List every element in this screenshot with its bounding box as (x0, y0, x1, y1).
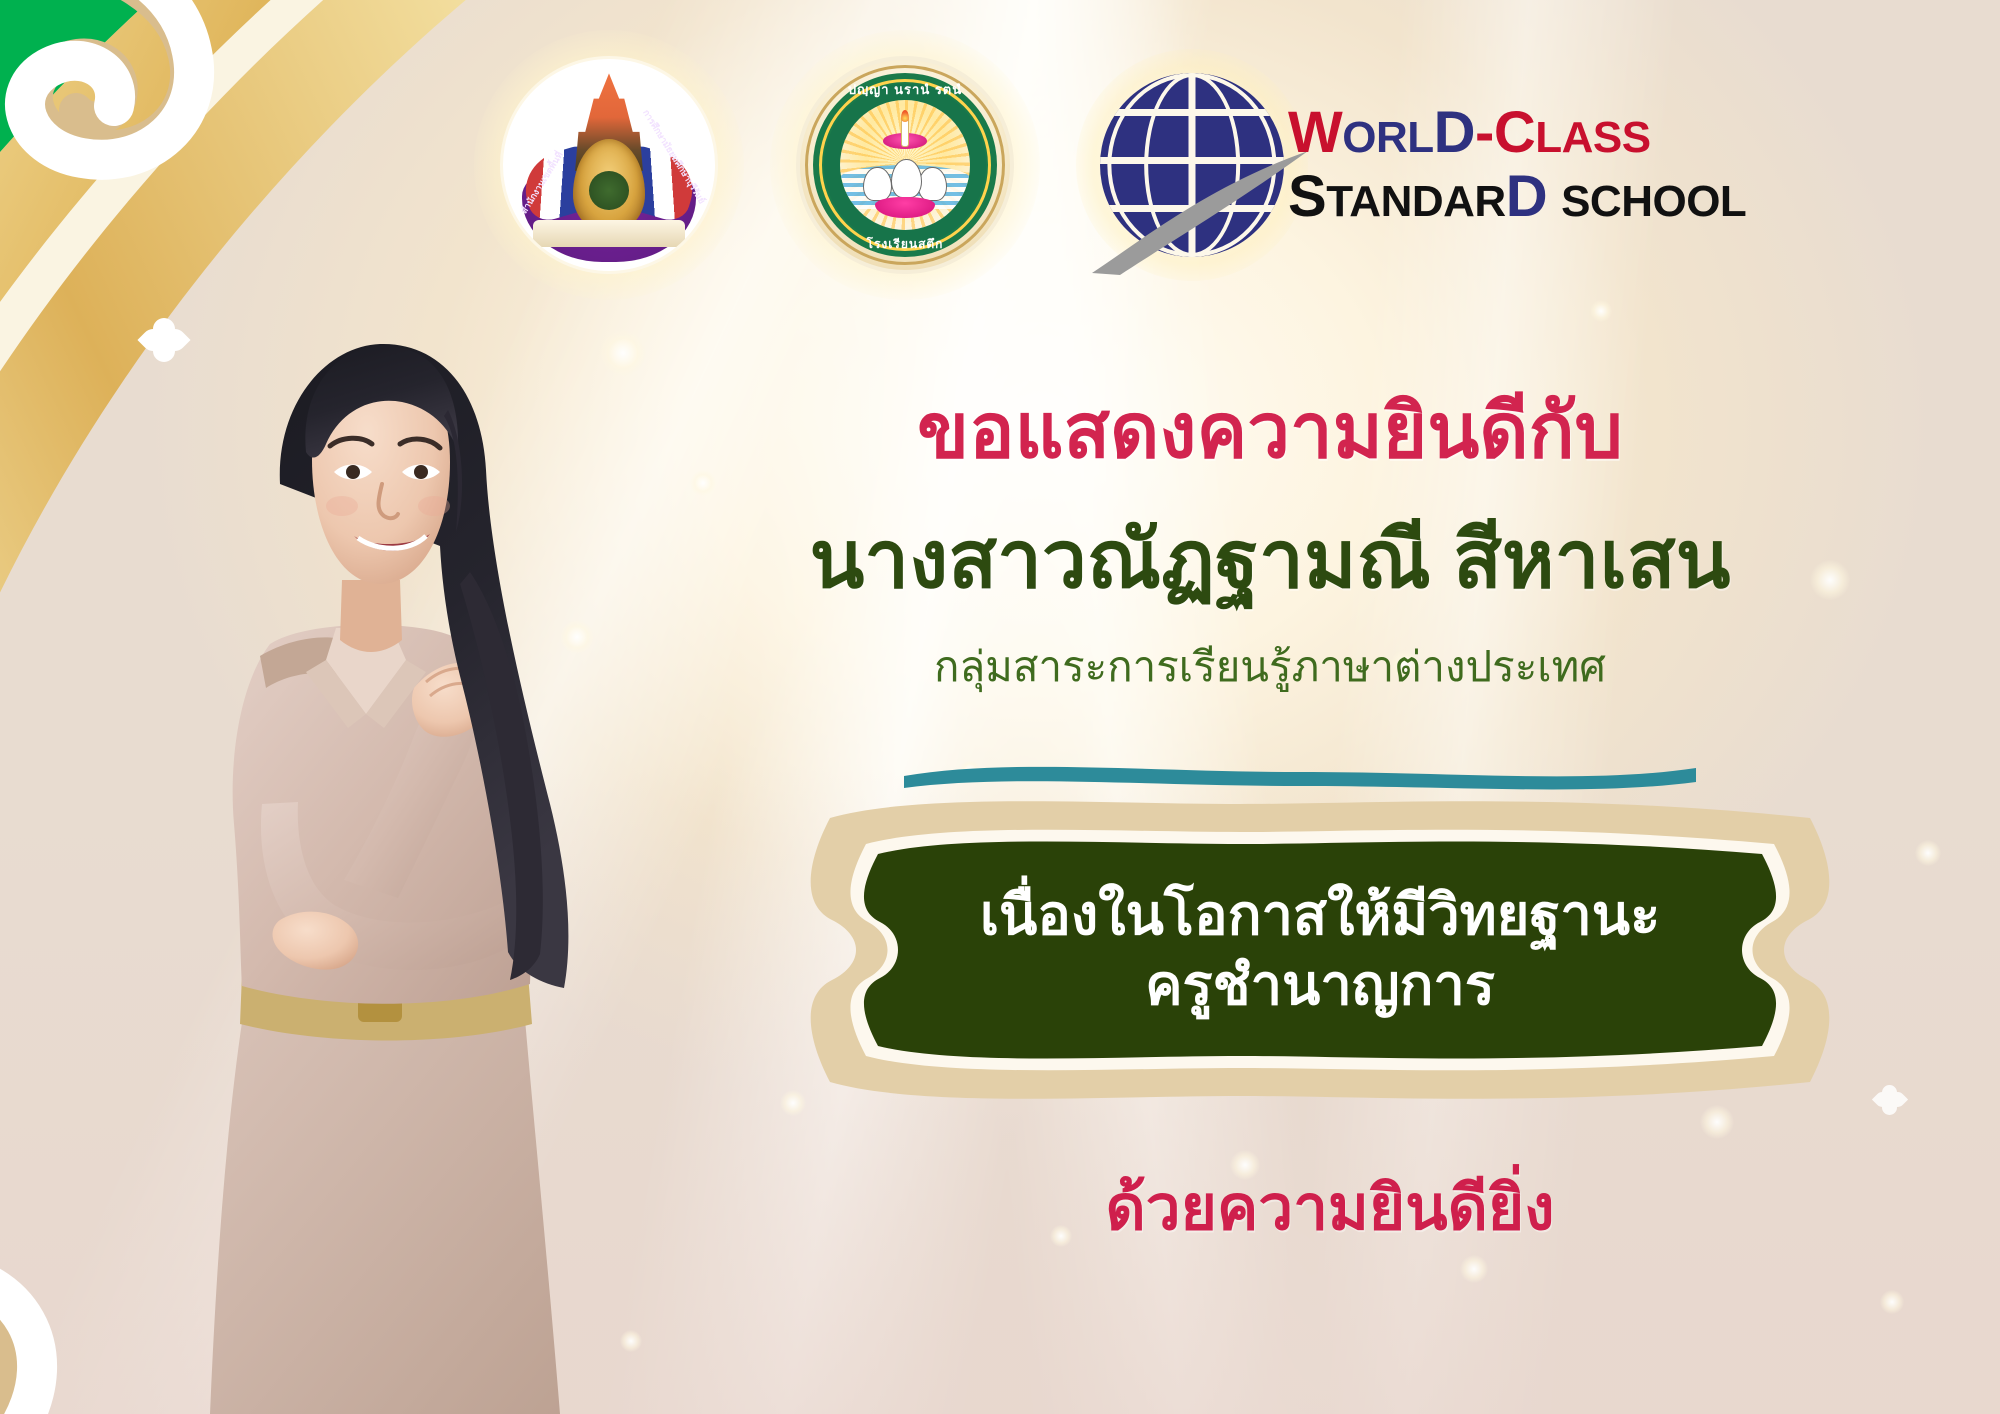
wcss-d2: D (1506, 164, 1547, 229)
congratulation-poster: สำนักงานเขตพื้นที่ การศึกษามัธยมศึกษาบุร… (0, 0, 2000, 1414)
wcss-school: SCHOOL (1561, 177, 1746, 226)
banner-line-2: ครูชำนาญการ (1145, 952, 1495, 1018)
school-motto: ปญฺญา นรานํ รตนํ (800, 79, 1010, 100)
award-banner: เนื่องในโอกาสให้มีวิทยฐานะ ครูชำนาญการ (770, 800, 1870, 1100)
wcss-w: W (1288, 100, 1342, 165)
globe-body (1100, 73, 1284, 257)
wcss-tandar: TANDAR (1326, 177, 1506, 226)
logo-row: สำนักงานเขตพื้นที่ การศึกษามัธยมศึกษาบุร… (500, 52, 1770, 277)
banner-line-1: เนื่องในโอกาสให้มีวิทยฐานะ (980, 882, 1660, 948)
area-office-emblem-icon: สำนักงานเขตพื้นที่ การศึกษามัธยมศึกษาบุร… (500, 56, 718, 274)
school-name: โรงเรียนสตึก (800, 235, 1010, 254)
area-office-caption-right: การศึกษามัธยมศึกษาบุรีรัมย์ (639, 106, 709, 206)
globe-icon (1092, 65, 1292, 265)
school-emblem-icon: ปญฺญา นรานํ รตนํ โรงเรียนสตึก (796, 56, 1014, 274)
wcss-orl: ORL (1342, 113, 1433, 162)
wcss-lass: LASS (1535, 113, 1650, 162)
wcss-d1: D (1434, 100, 1475, 165)
area-office-caption-left: สำนักงานเขตพื้นที่ (517, 148, 566, 215)
wcss-s: S (1288, 164, 1326, 229)
wcss-c: -C (1475, 100, 1535, 165)
world-class-standard-school-icon: WORLD-CLASS STANDARDSCHOOL (1092, 57, 1746, 272)
world-class-wordmark: WORLD-CLASS STANDARDSCHOOL (1288, 104, 1746, 226)
subject-group: กลุ่มสาระการเรียนรู้ภาษาต่างประเทศ (700, 646, 1840, 688)
area-office-emblem-body: สำนักงานเขตพื้นที่ การศึกษามัธยมศึกษาบุร… (500, 56, 718, 274)
closing-message: ด้วยความยินดียิ่ง (830, 1178, 1830, 1240)
school-emblem-body: ปญฺญา นรานํ รตนํ โรงเรียนสตึก (796, 56, 1014, 274)
person-name: นางสาวณัฏฐามณี สีหาเสน (700, 520, 1840, 600)
banner-text-block: เนื่องในโอกาสให้มีวิทยฐานะ ครูชำนาญการ (770, 800, 1870, 1100)
headline-congratulations: ขอแสดงความยินดีกับ (700, 394, 1840, 470)
teal-brush-divider (900, 752, 1700, 792)
